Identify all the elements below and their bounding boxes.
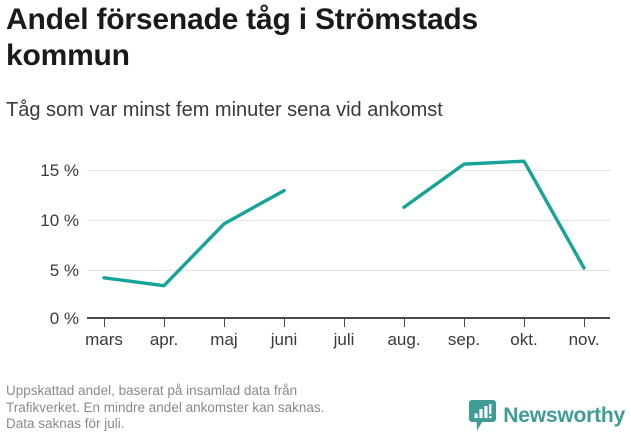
source-note: Uppskattad andel, baserat på insamlad da… bbox=[6, 383, 406, 433]
newsworthy-logo: Newsworthy bbox=[469, 400, 625, 431]
series-line-andel-forsenade-tag bbox=[0, 140, 631, 365]
page-title: Andel försenade tåg i Strömstads kommun bbox=[6, 2, 606, 74]
source-note-line-1: Uppskattad andel, baserat på insamlad da… bbox=[6, 383, 406, 400]
brand-name: Newsworthy bbox=[503, 405, 625, 426]
chart-plot-area: 15 % 10 % 5 % 0 % mars apr. maj juni jul… bbox=[0, 140, 631, 365]
chart-subtitle: Tåg som var minst fem minuter sena vid a… bbox=[6, 97, 606, 123]
source-note-line-3: Data saknas för juli. bbox=[6, 416, 406, 433]
chart-page: Andel försenade tåg i Strömstads kommun … bbox=[0, 0, 631, 439]
source-note-line-2: Trafikverket. En mindre andel ankomster … bbox=[6, 400, 406, 417]
bar-chart-speech-bubble-icon bbox=[469, 400, 496, 431]
